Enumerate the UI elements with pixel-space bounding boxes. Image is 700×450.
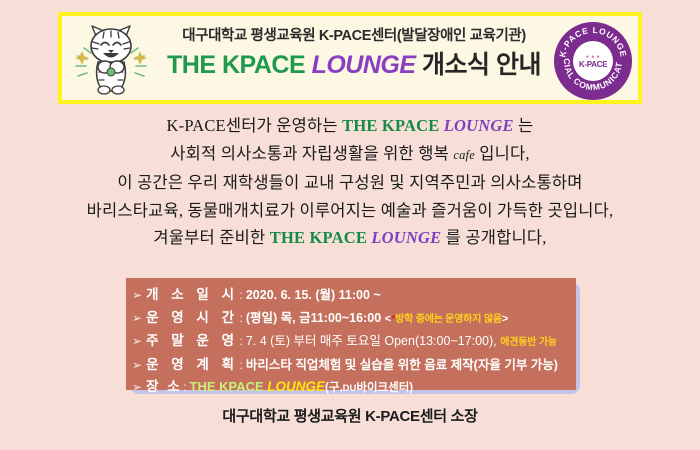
body-line-2-b: 입니다, bbox=[475, 144, 530, 163]
label-operation-plan: 운 영 계 획 bbox=[146, 354, 238, 376]
label-operating-hours: 운 영 시 간 bbox=[146, 307, 238, 329]
body-line-4: 바리스타교육, 동물매개치료가 이루어지는 예술과 즐거움이 가득한 곳입니다, bbox=[0, 197, 700, 225]
body-line-1-d: 는 bbox=[514, 116, 534, 135]
info-box: ➢ 개 소 일 시 : 2020. 6. 15. (월) 11:00 ~ ➢ 운… bbox=[126, 278, 576, 390]
info-row-operating-hours: ➢ 운 영 시 간 : (평일) 목, 금 11:00~16:00 < * 방학… bbox=[132, 307, 576, 331]
header-title-lounge: LOUNGE bbox=[312, 51, 416, 79]
body-line-1: K-PACE센터가 운영하는 THE KPACE LOUNGE 는 bbox=[0, 112, 700, 140]
value-location-tail-a: (구, bbox=[325, 378, 343, 400]
body-line-2: 사회적 의사소통과 자립생활을 위한 행복 cafe 입니다, bbox=[0, 140, 700, 170]
colon-4: : bbox=[183, 377, 186, 399]
label-weekend-operation: 주 말 운 영 bbox=[146, 330, 238, 352]
colon-3: : bbox=[240, 355, 243, 377]
header-text-block: 대구대학교 평생교육원 K-PACE센터(발달장애인 교육기관) THE KPA… bbox=[154, 22, 554, 82]
body-line-5: 겨울부터 준비한 THE KPACE LOUNGE 를 공개합니다, bbox=[0, 224, 700, 252]
note-angle-close: > bbox=[502, 309, 508, 331]
colon-0: : bbox=[240, 285, 243, 307]
body-line-1-the-kpace: THE KPACE bbox=[342, 116, 439, 135]
bullet-arrow-icon: ➢ bbox=[132, 377, 142, 399]
header-title-the-kpace: THE KPACE bbox=[167, 51, 305, 79]
logo-center: ● ● ● K-PACE bbox=[573, 41, 613, 81]
kpace-lounge-logo: K-PACE LOUNGE SOCIAL COMMUNICATION ● ● ●… bbox=[554, 22, 632, 100]
bullet-arrow-icon: ➢ bbox=[132, 331, 142, 353]
logo-center-text: K-PACE bbox=[579, 60, 607, 69]
header-title: THE KPACE LOUNGE 개소식 안내 bbox=[154, 48, 554, 82]
body-line-3: 이 공간은 우리 재학생들이 교내 구성원 및 지역주민과 의사소통하며 bbox=[0, 169, 700, 197]
colon-1: : bbox=[240, 308, 243, 330]
body-line-1-a: K-PACE센터가 운영하는 bbox=[167, 116, 343, 135]
label-location: 장 소 bbox=[146, 376, 182, 398]
info-row-opening-datetime: ➢ 개 소 일 시 : 2020. 6. 15. (월) 11:00 ~ bbox=[132, 284, 576, 307]
poster-root: 대구대학교 평생교육원 K-PACE센터(발달장애인 교육기관) THE KPA… bbox=[0, 0, 700, 450]
info-row-operation-plan: ➢ 운 영 계 획 : 바리스타 직업체험 및 실습을 위한 음료 제작(자율 … bbox=[132, 354, 576, 377]
footer-signature: 대구대학교 평생교육원 K-PACE센터 소장 bbox=[0, 405, 700, 426]
header-banner: 대구대학교 평생교육원 K-PACE센터(발달장애인 교육기관) THE KPA… bbox=[58, 12, 642, 104]
info-row-weekend-operation: ➢ 주 말 운 영 : 7. 4 (토) 부터 매주 토요일 Open(13:0… bbox=[132, 330, 576, 354]
bullet-arrow-icon: ➢ bbox=[132, 285, 142, 307]
value-location-lounge: LOUNGE bbox=[267, 376, 325, 398]
note-vacation-closed: 방학 중에는 운영하지 않음 bbox=[395, 309, 502, 331]
colon-2: : bbox=[240, 331, 243, 353]
value-operating-hours-prefix: (평일) 목, 금 bbox=[246, 308, 311, 330]
bullet-arrow-icon: ➢ bbox=[132, 355, 142, 377]
white-tiger-mascot-icon bbox=[70, 20, 152, 104]
header-title-suffix: 개소식 안내 bbox=[422, 51, 541, 79]
value-opening-datetime: 2020. 6. 15. (월) 11:00 ~ bbox=[246, 285, 381, 307]
note-pets-allowed: 애견동반 가능 bbox=[500, 332, 557, 354]
value-location-the-kpace: THE KPACE bbox=[190, 376, 264, 398]
body-line-2-a: 사회적 의사소통과 자립생활을 위한 행복 bbox=[170, 144, 453, 163]
value-weekend-operation: 7. 4 (토) 부터 매주 토요일 Open(13:00~17:00), bbox=[246, 331, 497, 353]
value-operation-plan: 바리스타 직업체험 및 실습을 위한 음료 제작(자율 기부 가능) bbox=[246, 355, 558, 377]
body-line-5-the-kpace: THE KPACE bbox=[270, 228, 367, 247]
body-line-5-lounge: LOUNGE bbox=[371, 228, 441, 247]
header-subtitle: 대구대학교 평생교육원 K-PACE센터(발달장애인 교육기관) bbox=[154, 22, 554, 46]
body-line-5-a: 겨울부터 준비한 bbox=[153, 228, 269, 247]
label-opening-datetime: 개 소 일 시 bbox=[146, 284, 238, 306]
body-line-1-lounge: LOUNGE bbox=[444, 116, 514, 135]
value-location-tail-b: DU bbox=[343, 378, 357, 400]
body-paragraph: K-PACE센터가 운영하는 THE KPACE LOUNGE 는 사회적 의사… bbox=[0, 112, 700, 252]
value-location-tail-c: 바이크센터) bbox=[356, 378, 413, 400]
info-row-location: ➢ 장 소 : THE KPACE LOUNGE (구, DU 바이크센터) bbox=[132, 376, 576, 400]
body-line-5-d: 를 공개합니다, bbox=[441, 228, 546, 247]
body-line-2-cafe: cafe bbox=[453, 148, 475, 162]
bullet-arrow-icon: ➢ bbox=[132, 308, 142, 330]
value-operating-hours: 11:00~16:00 bbox=[311, 308, 382, 330]
